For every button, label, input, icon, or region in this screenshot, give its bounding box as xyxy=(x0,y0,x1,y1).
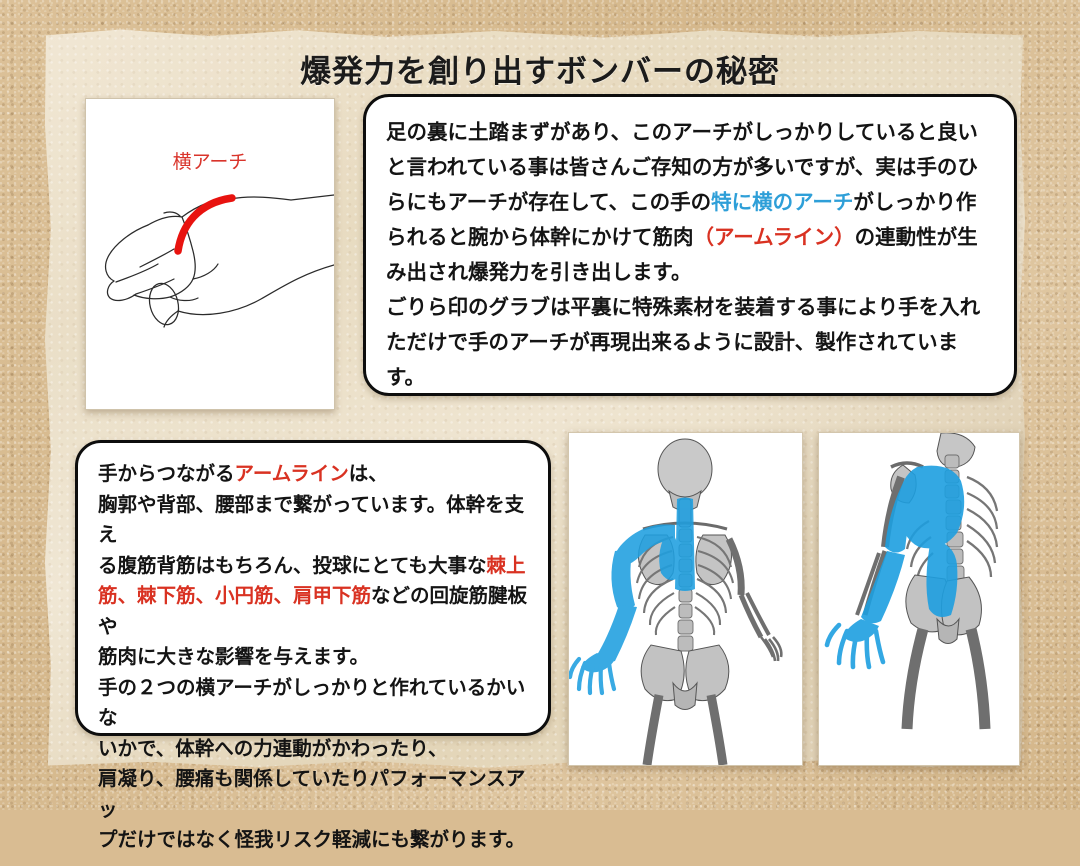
text-line: ごりら印のグラブは平裏に特殊素材を装着する事により手を入れ xyxy=(386,290,994,325)
text-line: いかで、体幹への力連動がかわったり、 xyxy=(98,734,532,765)
text-line: 胸郭や背部、腰部まで繋がっています。体幹を支え xyxy=(98,490,532,551)
text-run: み出され爆発力を引き出します。 xyxy=(386,261,691,284)
text-line: 手からつながるアームラインは、 xyxy=(98,459,532,490)
text-run: がしっかり作 xyxy=(853,191,976,214)
text-line: す。 xyxy=(386,360,994,395)
text-run: ごりら印のグラブは平裏に特殊素材を装着する事により手を入れ xyxy=(386,296,980,319)
text-run: は、 xyxy=(349,463,388,485)
text-run: 肩凝り、腰痛も関係していたりパフォーマンスアッ xyxy=(98,768,525,821)
arch-label: 横アーチ xyxy=(173,147,248,174)
arm-line-description-text: 手からつながるアームラインは、胸郭や背部、腰部まで繋がっています。体幹を支える腹… xyxy=(98,459,532,856)
text-line: 足の裏に土踏まずがあり、このアーチがしっかりしていると良い xyxy=(386,115,994,150)
transverse-arch-arc xyxy=(178,198,232,251)
text-run: いかで、体幹への力連動がかわったり、 xyxy=(98,738,447,760)
arm-line-description-box: 手からつながるアームラインは、胸郭や背部、腰部まで繋がっています。体幹を支える腹… xyxy=(75,440,551,736)
highlight-red: 筋、棘下筋、小円筋、肩甲下筋 xyxy=(98,585,371,607)
hand-drawing xyxy=(86,99,334,409)
text-line: 筋肉に大きな影響を与えます。 xyxy=(98,642,532,673)
highlight-red: アームライン xyxy=(235,463,349,485)
text-run: と言われている事は皆さんご存知の方が多いですが、実は手のひ xyxy=(386,156,978,179)
text-line: ただけで手のアーチが再現出来るように設計、製作されていま xyxy=(386,325,994,360)
text-run: の連動性が生 xyxy=(855,226,978,249)
highlight-blue: 特に横のアーチ xyxy=(711,191,853,214)
text-line: る腹筋背筋はもちろん、投球にとても大事な棘上 xyxy=(98,551,532,582)
text-line: られると腕から体幹にかけて筋肉（アームライン）の連動性が生 xyxy=(386,220,994,255)
text-line: 手の２つの横アーチがしっかりと作れているかいな xyxy=(98,673,532,734)
text-run: 足の裏に土踏まずがあり、このアーチがしっかりしていると良い xyxy=(386,121,978,144)
text-line: プだけではなく怪我リスク軽減にも繋がります。 xyxy=(98,825,532,856)
skeleton-posterior-drawing xyxy=(569,433,802,765)
text-run: られると腕から体幹にかけて筋肉 xyxy=(386,226,694,249)
text-line: と言われている事は皆さんご存知の方が多いですが、実は手のひ xyxy=(386,150,994,185)
highlight-red: 棘上 xyxy=(486,555,525,577)
text-run: 筋肉に大きな影響を与えます。 xyxy=(98,646,369,668)
text-run: す。 xyxy=(386,366,425,389)
skeleton-oblique-view xyxy=(818,432,1020,766)
text-line: 肩凝り、腰痛も関係していたりパフォーマンスアッ xyxy=(98,764,532,825)
text-run: プだけではなく怪我リスク軽減にも繋がります。 xyxy=(98,829,525,851)
text-run: ただけで手のアーチが再現出来るように設計、製作されていま xyxy=(386,331,958,354)
page-title: 爆発力を創り出すボンバーの秘密 xyxy=(0,46,1080,91)
text-run: 胸郭や背部、腰部まで繋がっています。体幹を支え xyxy=(98,494,524,547)
text-run: る腹筋背筋はもちろん、投球にとても大事な xyxy=(98,555,486,577)
text-run: 手からつながる xyxy=(98,463,235,485)
main-description-text: 足の裏に土踏まずがあり、このアーチがしっかりしていると良いと言われている事は皆さ… xyxy=(386,115,994,395)
text-run: らにもアーチが存在して、この手の xyxy=(386,191,711,214)
main-description-box: 足の裏に土踏まずがあり、このアーチがしっかりしていると良いと言われている事は皆さ… xyxy=(363,94,1017,396)
infographic-page: 爆発力を創り出すボンバーの秘密 xyxy=(0,0,1080,810)
text-line: み出され爆発力を引き出します。 xyxy=(386,255,994,290)
text-line: 筋、棘下筋、小円筋、肩甲下筋などの回旋筋腱板や xyxy=(98,581,532,642)
highlight-red: （アームライン） xyxy=(694,226,855,249)
hand-arch-card: 横アーチ xyxy=(85,98,335,410)
text-line: らにもアーチが存在して、この手の特に横のアーチがしっかり作 xyxy=(386,185,994,220)
text-run: 手の２つの横アーチがしっかりと作れているかいな xyxy=(98,677,525,730)
skeleton-posterior-view xyxy=(568,432,803,766)
skeleton-oblique-drawing xyxy=(819,433,1019,765)
